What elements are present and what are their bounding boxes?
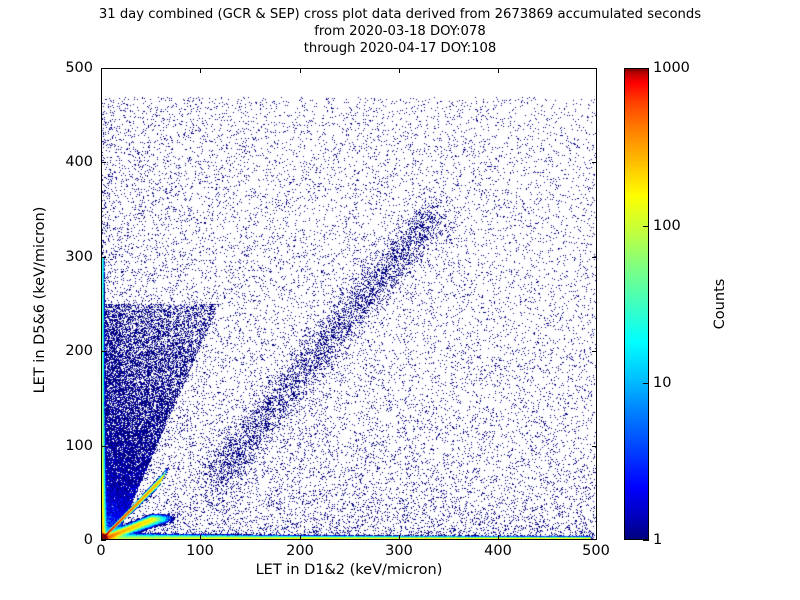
y-tick-100 [101,446,106,447]
y-tick-500 [101,68,106,69]
x-tick-top-200 [300,68,301,73]
x-ticklabel-100: 100 [165,543,235,559]
colorbar-label-1: 1 [653,532,662,548]
y-ticklabel-0: 0 [23,532,93,548]
colorbar-tick-1 [643,540,649,541]
x-tick-200 [300,535,301,540]
y-ticklabel-500: 500 [23,60,93,76]
colorbar-tick-1000 [643,68,649,69]
x-tick-100 [200,535,201,540]
colorbar-tick-10 [643,383,649,384]
y-tick-right-100 [592,446,597,447]
y-tick-300 [101,257,106,258]
title-line-3: through 2020-04-17 DOY:108 [0,40,800,57]
colorbar [624,68,649,540]
x-tick-top-100 [200,68,201,73]
y-tick-right-300 [592,257,597,258]
x-tick-500 [596,535,597,540]
title-line-1: 31 day combined (GCR & SEP) cross plot d… [0,6,800,23]
title-line-2: from 2020-03-18 DOY:078 [0,23,800,40]
y-tick-right-200 [592,351,597,352]
plot-area [101,68,597,540]
x-tick-top-400 [498,68,499,73]
colorbar-title: Counts [712,184,728,424]
x-ticklabel-300: 300 [364,543,434,559]
colorbar-tick-100 [643,226,649,227]
x-ticklabel-200: 200 [265,543,335,559]
x-tick-top-300 [399,68,400,73]
y-axis-label: LET in D5&6 (keV/micron) [32,150,48,450]
y-tick-right-400 [592,162,597,163]
colorbar-label-100: 100 [653,218,681,234]
y-tick-400 [101,162,106,163]
scatter-density-plot [102,69,596,539]
y-tick-0 [101,540,106,541]
x-tick-300 [399,535,400,540]
colorbar-label-1000: 1000 [653,60,690,76]
x-axis-label: LET in D1&2 (keV/micron) [101,562,597,578]
colorbar-label-10: 10 [653,375,671,391]
x-ticklabel-500: 500 [561,543,631,559]
y-tick-200 [101,351,106,352]
x-tick-400 [498,535,499,540]
x-ticklabel-400: 400 [463,543,533,559]
chart-title: 31 day combined (GCR & SEP) cross plot d… [0,6,800,57]
